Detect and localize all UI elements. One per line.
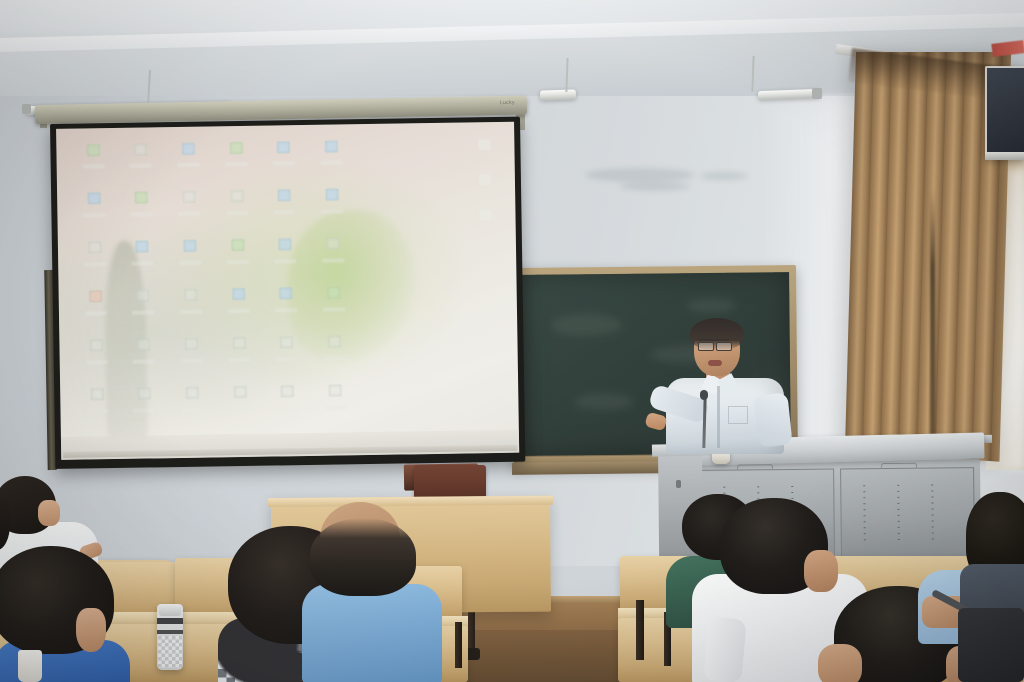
desktop-icon xyxy=(71,187,117,235)
desktop-icon xyxy=(264,330,310,378)
desktop-icon xyxy=(165,136,211,184)
desktop-icon-grid xyxy=(70,134,358,430)
cabinet-vent-slot xyxy=(897,497,899,498)
cabinet-vent-slot xyxy=(757,486,759,487)
desktop-icon xyxy=(214,233,260,281)
presenter-mouth xyxy=(708,360,722,366)
presenter xyxy=(664,322,794,452)
thermos-bottle xyxy=(157,604,183,670)
desktop-icon xyxy=(74,382,120,430)
desktop-icon xyxy=(121,333,167,381)
cabinet-vent-slot xyxy=(898,521,900,522)
cabinet-vent-slot xyxy=(932,514,934,515)
cabinet-vent-slot xyxy=(791,492,793,493)
attendee-top xyxy=(302,584,442,682)
cabinet-vent-slot xyxy=(898,527,900,528)
cabinet-vent-slot xyxy=(932,526,934,527)
desktop-icon-column-right xyxy=(473,139,498,292)
wall-smudge xyxy=(585,168,695,182)
cabinet-handle-icon[interactable] xyxy=(881,463,917,469)
tube-light-cap-icon xyxy=(812,88,822,99)
tube-light-cap-icon xyxy=(22,104,31,114)
desktop-icon xyxy=(119,235,165,283)
thermos-pattern xyxy=(158,636,182,668)
desktop-icon xyxy=(310,232,356,280)
cabinet-vent-slot xyxy=(898,533,900,534)
thermos-cap xyxy=(159,604,181,616)
cabinet-vent-slot xyxy=(897,491,899,492)
desktop-icon xyxy=(261,135,307,183)
cabinet-vent-slot xyxy=(931,484,933,485)
attendee-balding-blue-shirt xyxy=(302,500,438,682)
desktop-icon xyxy=(480,209,492,220)
desktop-icon xyxy=(166,185,212,233)
desktop-icon xyxy=(479,139,491,150)
chalkboard-lower-rail xyxy=(512,461,674,475)
desktop-icon xyxy=(118,137,164,185)
cabinet-vent-slot xyxy=(931,496,933,497)
attendee-ear xyxy=(818,644,862,682)
cabinet-vent-slot xyxy=(932,532,934,533)
cabinet-vent-slot xyxy=(931,490,933,491)
screen-brand-label: Lucky xyxy=(500,100,515,106)
bench-leg xyxy=(636,600,644,660)
desktop-icon xyxy=(264,379,310,427)
wall-smudge xyxy=(620,182,690,191)
presenter-shirt-pocket xyxy=(728,406,748,424)
desktop-icon xyxy=(261,184,307,232)
thermos-band xyxy=(157,630,183,634)
desktop-icon xyxy=(118,186,164,234)
desktop-icon xyxy=(263,282,309,330)
desktop-icon xyxy=(168,283,214,331)
desktop-icon xyxy=(169,381,215,429)
attendee-hair xyxy=(310,518,416,596)
tube-light-icon xyxy=(540,89,576,100)
curtain-gap xyxy=(930,190,935,448)
cabinet-vent-slot xyxy=(723,487,725,488)
cabinet-vent-slot xyxy=(932,508,934,509)
cabinet-vent-slot xyxy=(931,502,933,503)
presenter-shirt-placket xyxy=(717,386,720,448)
desktop-icon xyxy=(73,333,119,381)
desktop-icon xyxy=(311,281,357,329)
desktop-icon xyxy=(214,185,260,233)
attendee-sleeve xyxy=(703,616,746,682)
desktop-icon xyxy=(215,282,261,330)
wall-smudge xyxy=(700,172,748,180)
wall-speaker-icon xyxy=(985,66,1024,158)
desktop-icon xyxy=(262,233,308,281)
cabinet-vent-slot xyxy=(791,486,793,487)
glasses-icon xyxy=(716,342,732,351)
desktop-icon xyxy=(479,174,491,185)
cabinet-handle-icon[interactable] xyxy=(737,464,773,470)
desktop-icon xyxy=(311,330,357,378)
desktop-icon xyxy=(213,136,259,184)
cabinet-vent-slot xyxy=(863,485,865,486)
attendee-ear-neck xyxy=(76,608,106,652)
glasses-icon xyxy=(698,342,714,351)
desktop-icon xyxy=(70,138,116,186)
presenter-brow xyxy=(699,339,729,341)
desktop-icon xyxy=(72,236,118,284)
cabinet-vent-slot xyxy=(863,491,865,492)
desktop-icon xyxy=(216,331,262,379)
cabinet-vent-slot xyxy=(932,520,934,521)
cabinet-vent-slot xyxy=(898,539,900,540)
speaker-bracket xyxy=(985,152,1024,160)
bench-leg xyxy=(455,622,462,668)
white-cup xyxy=(18,650,42,682)
podium-lock-icon[interactable] xyxy=(676,480,681,488)
desktop-icon xyxy=(120,284,166,332)
cabinet-vent-slot xyxy=(897,485,899,486)
microphone-icon xyxy=(700,390,708,400)
shoulder-bag xyxy=(958,608,1024,682)
desktop-icon xyxy=(312,378,358,426)
presenter-right-arm xyxy=(753,392,792,447)
cabinet-vent-slot xyxy=(898,509,900,510)
desktop-icon xyxy=(217,380,263,428)
desktop-icon xyxy=(309,183,355,231)
projection-screen xyxy=(50,117,525,469)
cabinet-vent-slot xyxy=(898,515,900,516)
classroom-photo-scene: Lucky xyxy=(0,0,1024,682)
desktop-icon xyxy=(72,284,118,332)
thermos-band xyxy=(157,618,183,624)
desktop-icon xyxy=(167,234,213,282)
desktop-icon xyxy=(168,332,214,380)
cabinet-vent-slot xyxy=(897,503,899,504)
desktop-icon xyxy=(121,381,167,429)
attendee-face xyxy=(38,500,60,526)
desktop-icon xyxy=(308,134,354,182)
projection-screen-surface xyxy=(56,122,519,460)
